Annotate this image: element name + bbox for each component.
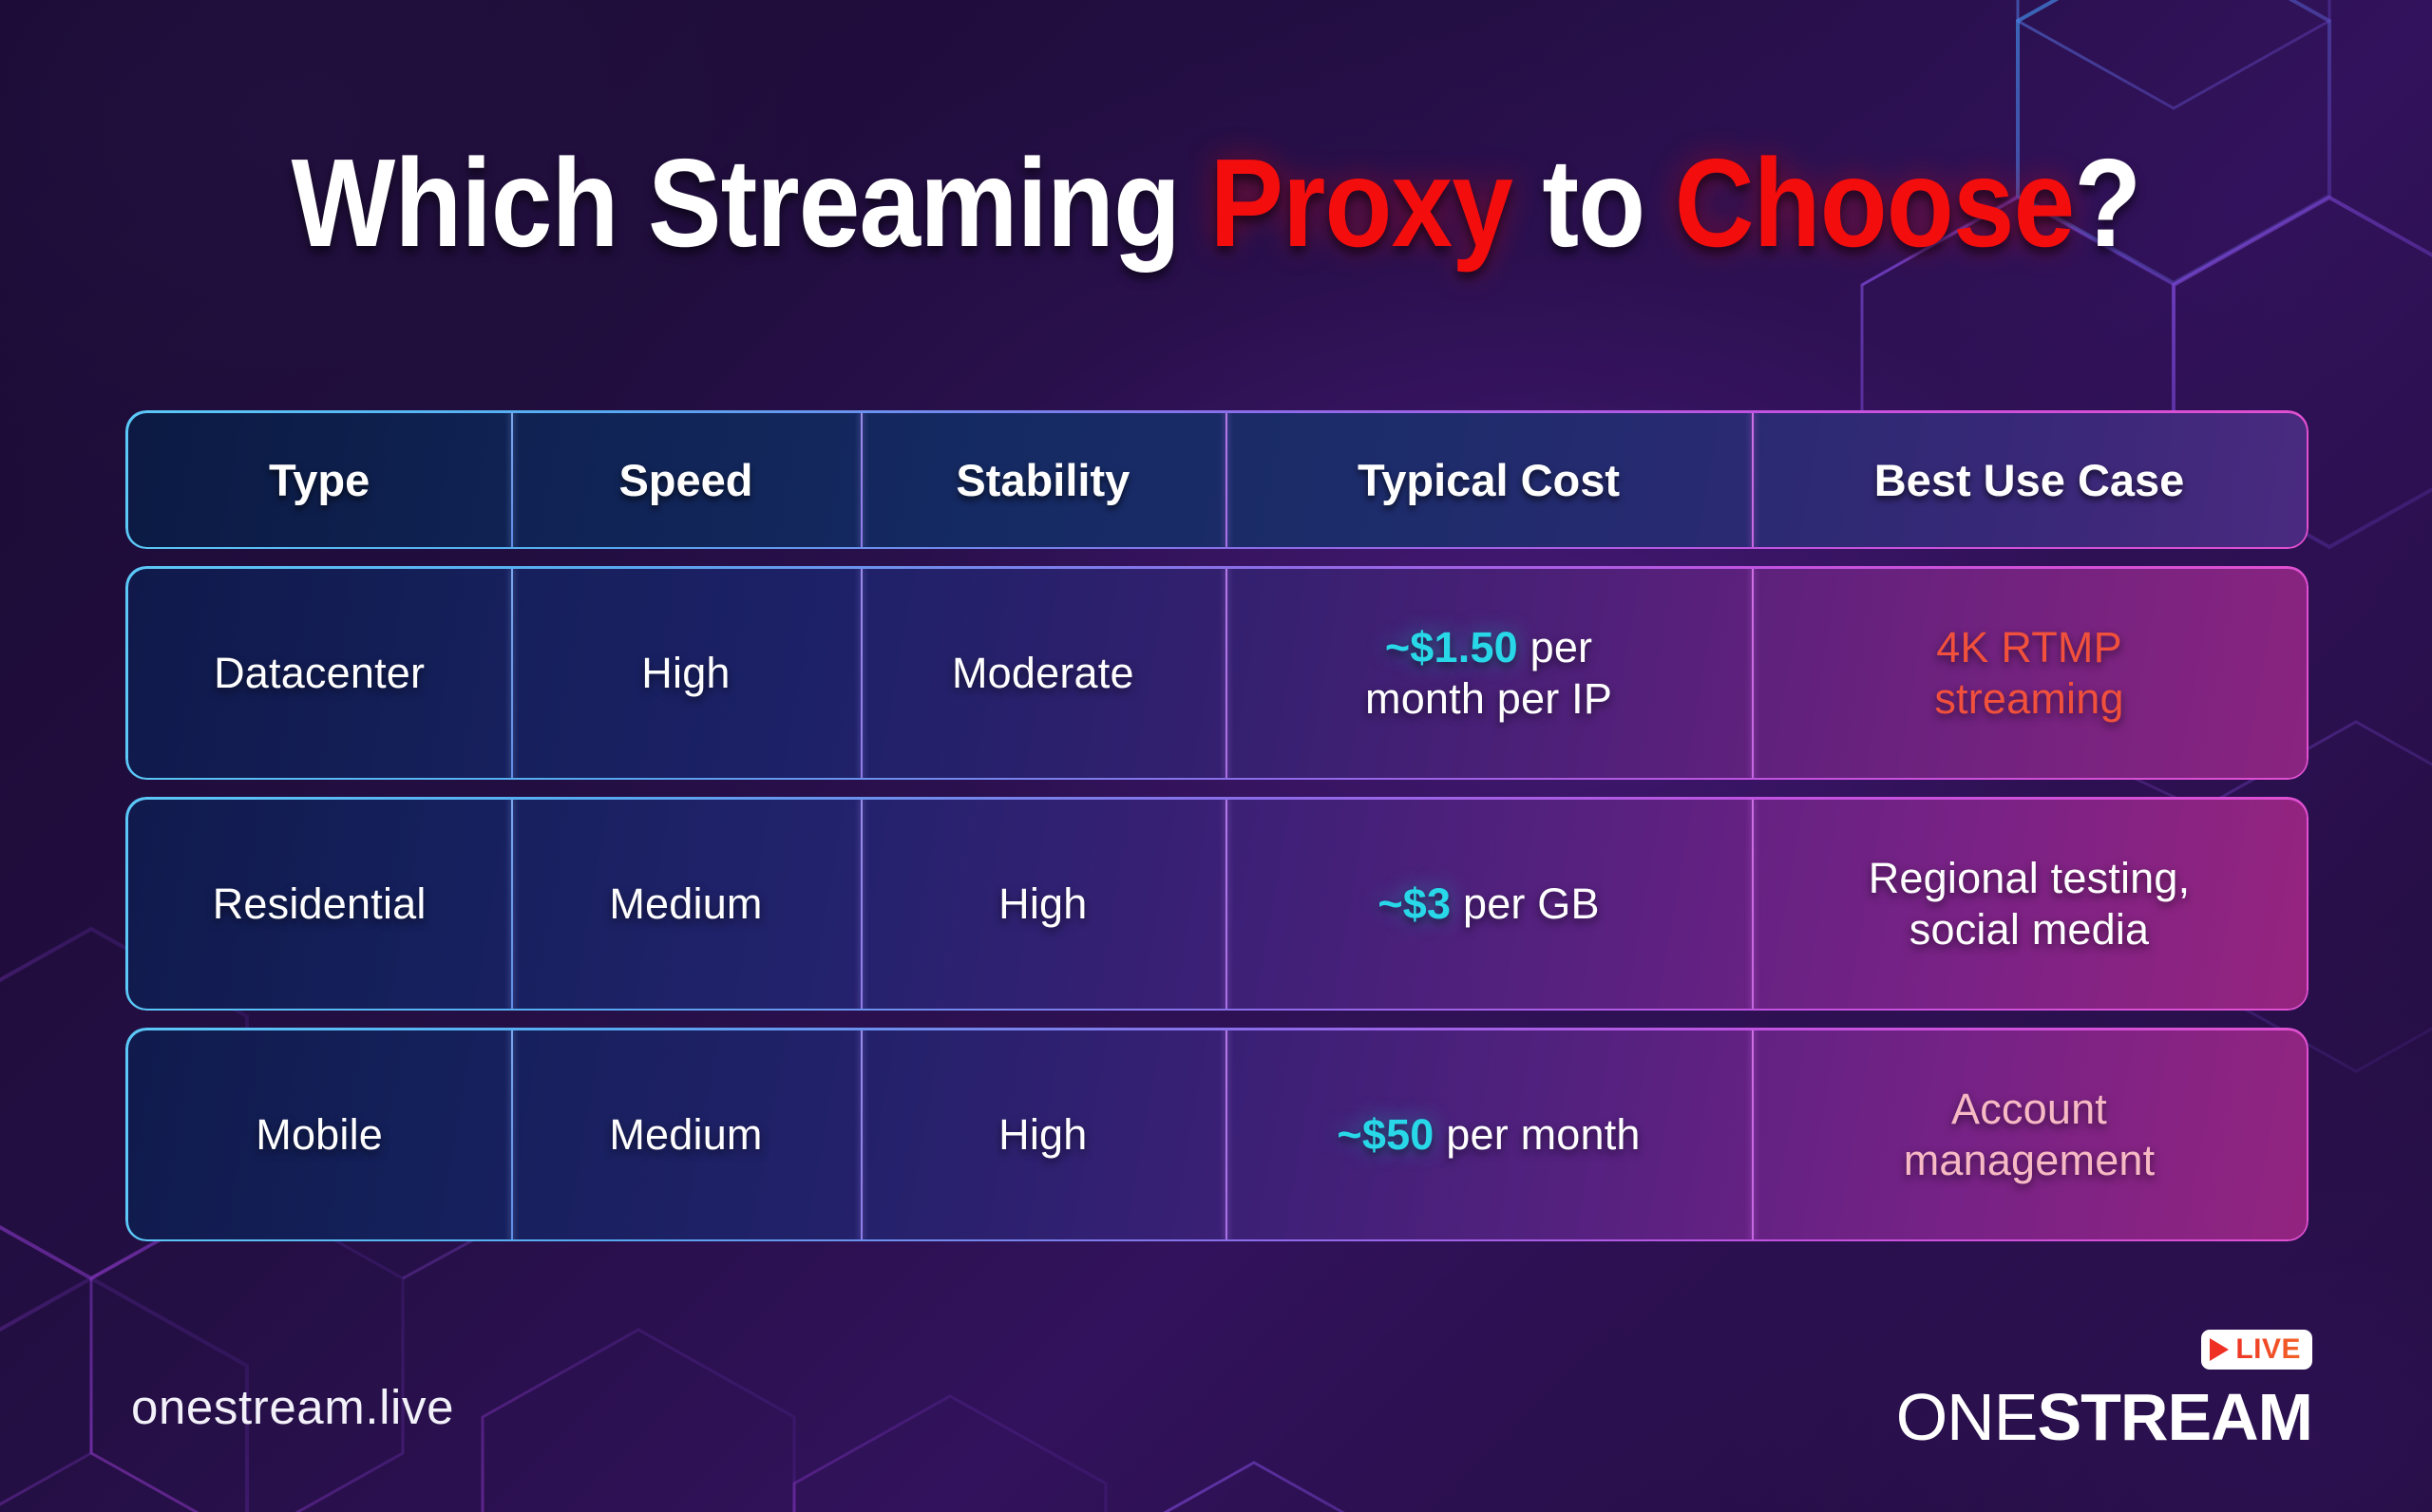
cell-use-case: Account management: [1752, 1030, 2307, 1239]
website-url: onestream.live: [131, 1379, 454, 1435]
use-case-line-2: streaming: [1934, 673, 2123, 725]
cost-amount: ~$50: [1337, 1110, 1434, 1159]
column-header-type: Type: [127, 412, 511, 547]
use-case-line-1: 4K RTMP: [1934, 622, 2123, 673]
title-segment-proxy: Proxy: [1210, 133, 1512, 273]
use-case-line-2: management: [1904, 1135, 2156, 1186]
title-segment-1: Which Streaming: [292, 133, 1210, 273]
use-case-line-1: Regional testing,: [1869, 853, 2191, 904]
cell-cost: ~$3 per GB: [1225, 799, 1752, 1009]
cost-amount: ~$3: [1377, 879, 1451, 928]
cell-speed: Medium: [511, 1030, 860, 1239]
use-case-line-1: Account: [1904, 1084, 2156, 1135]
cell-speed: Medium: [511, 799, 860, 1009]
cost-unit-line-2: month per IP: [1365, 673, 1612, 725]
title-segment-choose: Choose: [1675, 133, 2075, 273]
live-label: LIVE: [2235, 1333, 2301, 1366]
table-row: Residential Medium High ~$3 per GB Regio…: [125, 797, 2308, 1011]
title-segment-question-mark: ?: [2074, 133, 2140, 273]
table-header-row: Type Speed Stability Typical Cost Best U…: [125, 410, 2308, 549]
cell-stability: High: [861, 1030, 1225, 1239]
cost-unit-line-1: per: [1518, 623, 1592, 671]
use-case-line-2: social media: [1869, 904, 2191, 955]
cell-stability: Moderate: [861, 568, 1225, 778]
onestream-logo: LIVE ONESTREAM: [1913, 1330, 2312, 1455]
column-header-stability: Stability: [861, 412, 1225, 547]
logo-stream: STREAM: [2037, 1380, 2312, 1454]
cost-amount: ~$1.50: [1385, 623, 1518, 671]
play-icon: [2210, 1338, 2229, 1361]
title-segment-to: to: [1512, 133, 1675, 273]
logo-wordmark: ONESTREAM: [1896, 1379, 2312, 1455]
column-header-typical-cost: Typical Cost: [1225, 412, 1752, 547]
logo-one: ONE: [1896, 1380, 2038, 1454]
cell-speed: High: [511, 568, 860, 778]
cost-unit-line-1: per month: [1434, 1110, 1641, 1159]
cell-type: Mobile: [127, 1030, 511, 1239]
page-title: Which Streaming Proxy to Choose?: [146, 141, 2287, 266]
cell-cost: ~$50 per month: [1225, 1030, 1752, 1239]
live-badge: LIVE: [2201, 1330, 2312, 1370]
cell-use-case: Regional testing, social media: [1752, 799, 2307, 1009]
cell-stability: High: [861, 799, 1225, 1009]
comparison-table: Type Speed Stability Typical Cost Best U…: [125, 410, 2308, 1241]
column-header-speed: Speed: [511, 412, 860, 547]
cell-type: Datacenter: [127, 568, 511, 778]
column-header-best-use-case: Best Use Case: [1752, 412, 2307, 547]
cell-type: Residential: [127, 799, 511, 1009]
cell-use-case: 4K RTMP streaming: [1752, 568, 2307, 778]
cost-unit-line-1: per GB: [1451, 879, 1599, 928]
table-row: Datacenter High Moderate ~$1.50 per mont…: [125, 566, 2308, 780]
table-row: Mobile Medium High ~$50 per month Accoun…: [125, 1028, 2308, 1241]
cell-cost: ~$1.50 per month per IP: [1225, 568, 1752, 778]
